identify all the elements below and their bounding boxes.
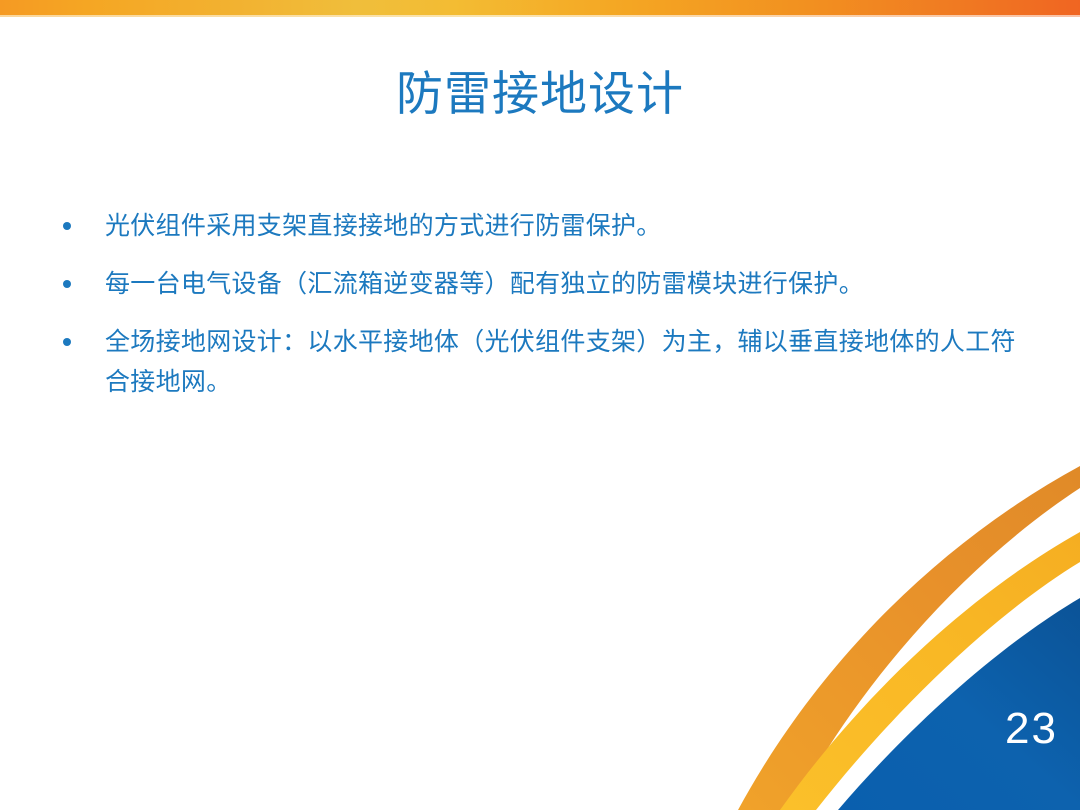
bullet-text: 每一台电气设备（汇流箱逆变器等）配有独立的防雷模块进行保护。 — [105, 264, 1026, 304]
bullet-text: 全场接地网设计：以水平接地体（光伏组件支架）为主，辅以垂直接地体的人工符合接地网… — [105, 322, 1026, 402]
page-number: 23 — [1005, 706, 1058, 752]
top-gradient-bar-shadow — [0, 15, 1080, 17]
bullet-text: 光伏组件采用支架直接接地的方式进行防雷保护。 — [105, 206, 1026, 246]
slide-title: 防雷接地设计 — [0, 64, 1080, 124]
slide-canvas: 防雷接地设计 光伏组件采用支架直接接地的方式进行防雷保护。 每一台电气设备（汇流… — [0, 0, 1080, 810]
swoosh-band-light-orange — [780, 532, 1080, 810]
list-item: 全场接地网设计：以水平接地体（光伏组件支架）为主，辅以垂直接地体的人工符合接地网… — [56, 322, 1026, 402]
bullet-list: 光伏组件采用支架直接接地的方式进行防雷保护。 每一台电气设备（汇流箱逆变器等）配… — [56, 206, 1026, 402]
swoosh-band-dark-orange — [738, 466, 1080, 810]
bullet-dot-icon — [63, 280, 71, 288]
corner-swoosh-decoration — [720, 450, 1080, 810]
bullet-dot-icon — [63, 222, 71, 230]
top-gradient-bar — [0, 0, 1080, 15]
list-item: 光伏组件采用支架直接接地的方式进行防雷保护。 — [56, 206, 1026, 246]
list-item: 每一台电气设备（汇流箱逆变器等）配有独立的防雷模块进行保护。 — [56, 264, 1026, 304]
bullet-dot-icon — [63, 338, 71, 346]
